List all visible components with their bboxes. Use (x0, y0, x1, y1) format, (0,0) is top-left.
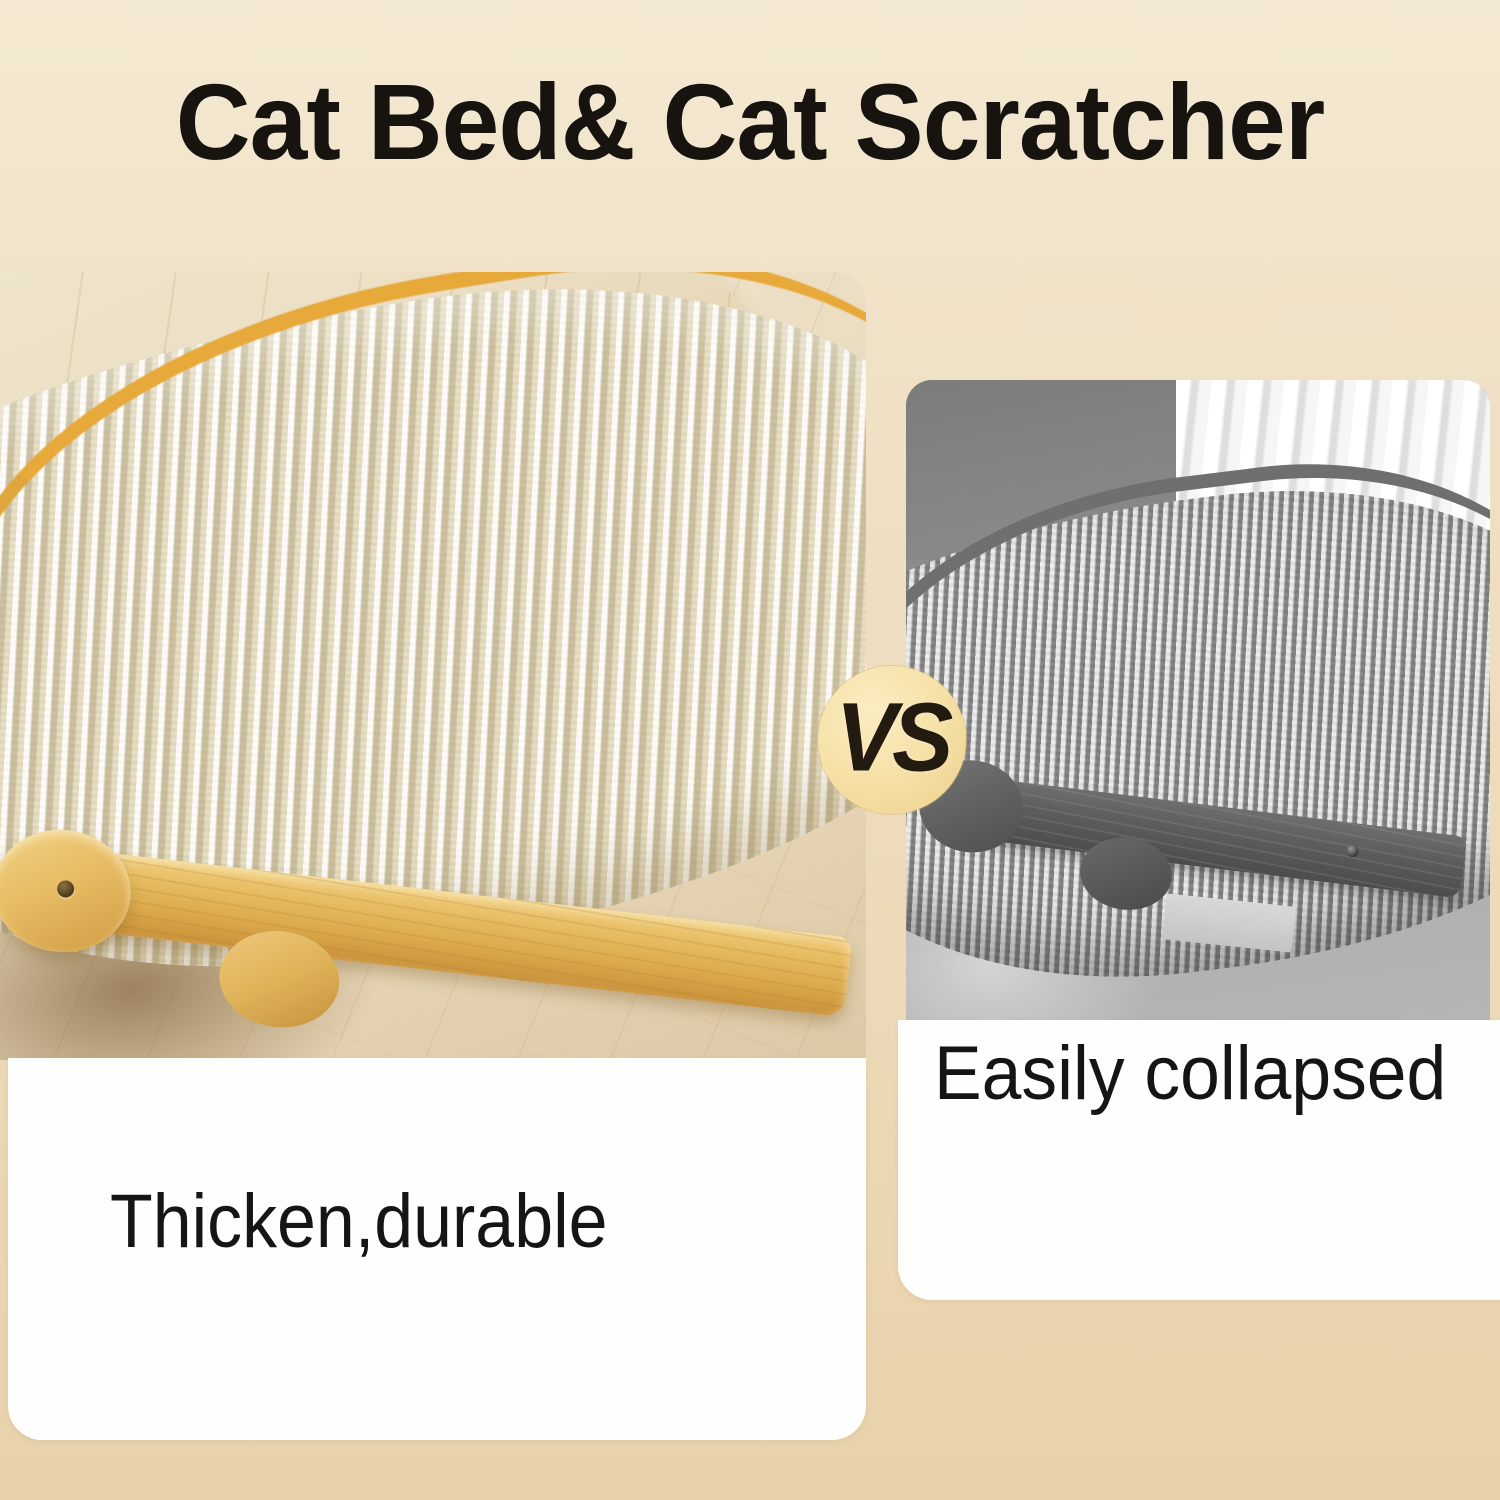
right-product-photo (906, 380, 1490, 1020)
left-caption-label: Thicken,durable (110, 1178, 608, 1265)
product-comparison: VS Thicken,durable Easily collapsed (0, 0, 1500, 1500)
left-product-photo (0, 272, 866, 1060)
right-caption-label: Easily collapsed (934, 1030, 1446, 1117)
vs-badge-label: VS (836, 682, 949, 793)
vs-badge-icon: VS (818, 666, 966, 814)
